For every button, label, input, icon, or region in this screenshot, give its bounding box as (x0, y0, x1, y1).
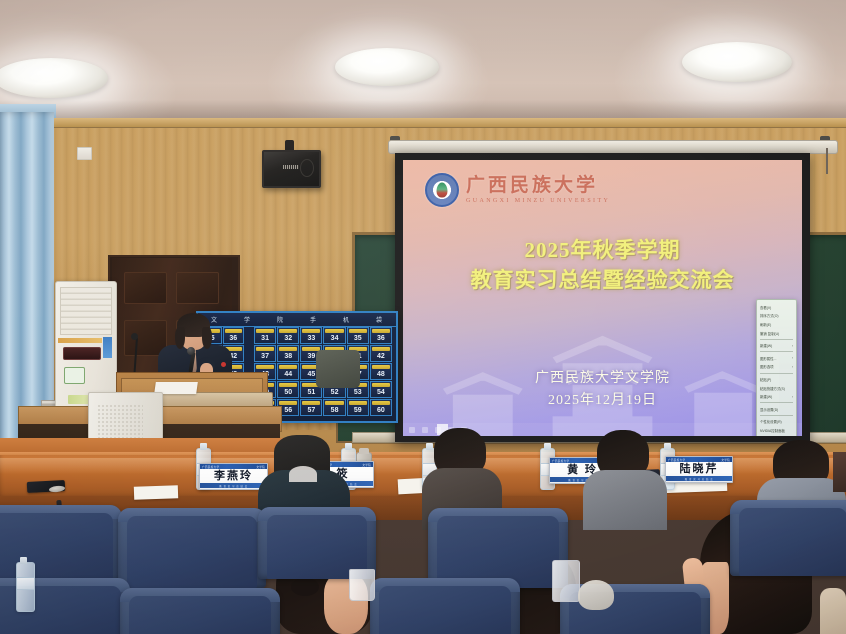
slide-title: 2025年秋季学期 教育实习总结暨经验交流会 (403, 236, 802, 296)
context-menu-label: 撤销 复制(U) (760, 331, 779, 336)
pocket-cell[interactable]: 60 (370, 399, 392, 416)
context-menu-item[interactable]: 图形选项› (757, 363, 796, 372)
paper-stack (134, 485, 178, 500)
wall-trim (0, 118, 846, 128)
pocket-cell[interactable]: 59 (347, 399, 369, 416)
gooseneck-mic-head-icon (131, 333, 138, 340)
pocket-board-header: 文 学 院 手 机 袋 (198, 313, 396, 327)
ac-vent-grille (60, 287, 112, 335)
partial-audience-shoulder (820, 588, 846, 634)
context-menu-label: 粘贴快捷方式(S) (760, 386, 785, 391)
context-menu-item[interactable]: 个性化设置(R) (757, 418, 796, 427)
slide-subtitle-line-2: 2025年12月19日 (403, 390, 802, 412)
context-menu-label: 图形属性... (760, 356, 776, 361)
presenter-badge (221, 362, 226, 367)
slide-subtitle-line-1: 广西民族大学文学院 (403, 368, 802, 390)
nameplate-footer: 教 育 实 习 总 结 会 (666, 476, 732, 481)
office-chair[interactable] (316, 350, 360, 388)
panelist-body (583, 470, 667, 530)
desktop-context-menu[interactable]: 查看(V) 排序方式(O) 刷新(E) 撤销 复制(U) 新建(W)› 图形属性… (756, 299, 797, 436)
auditorium-seat[interactable] (370, 578, 520, 634)
slide-title-line-2: 教育实习总结暨经验交流会 (403, 266, 802, 296)
pocket-cell[interactable]: 35 (347, 327, 369, 344)
pocket-cell[interactable]: 33 (300, 327, 322, 344)
pocket-cell[interactable]: 48 (370, 363, 392, 380)
context-menu-item[interactable]: 排序方式(O) (757, 312, 796, 321)
context-menu-label: 新建(W) (760, 343, 772, 348)
submenu-arrow-icon: › (792, 365, 793, 369)
nameplate: 广西民族大学 文学院 李燕玲 教 育 实 习 总 结 会 (199, 463, 268, 490)
ac-energy-label (103, 337, 112, 358)
seat-cushion (739, 508, 846, 576)
auditorium-seat[interactable] (118, 508, 266, 588)
pocket-header-char: 机 (343, 315, 350, 324)
panelist-collar (289, 466, 317, 482)
auditorium-seat[interactable] (428, 508, 568, 588)
pocket-header-char: 袋 (376, 315, 383, 324)
pocket-cell[interactable]: 31 (254, 327, 276, 344)
pocket-cell[interactable]: 38 (277, 345, 299, 362)
projection-screen-roller[interactable] (388, 140, 838, 154)
seat-cushion (129, 596, 271, 634)
pocket-cell[interactable]: 44 (277, 363, 299, 380)
nameplate: 广西民族大学 文学院 陆晓芹 教 育 实 习 总 结 会 (665, 456, 733, 483)
fur-collar (578, 580, 614, 610)
context-menu-item[interactable]: 撤销 复制(U) (757, 329, 796, 338)
presenter-hair-side (202, 327, 212, 349)
context-menu-item[interactable]: 新建(W)› (757, 341, 796, 350)
projection-screen: 广西民族大学 GUANGXI MINZU UNIVERSITY 2025年秋季学… (403, 160, 802, 436)
auditorium-seat[interactable] (730, 500, 846, 576)
submenu-arrow-icon: › (792, 356, 793, 360)
context-menu-separator (760, 373, 793, 374)
context-menu-item[interactable]: NVIDIA控制面板 (757, 426, 796, 435)
ceiling-light-2 (335, 48, 439, 86)
pocket-header-char: 文 (211, 315, 218, 324)
door-panel (124, 272, 167, 304)
nameplate-org-left: 广西民族大学 (668, 458, 685, 462)
context-menu-label: 刷新(E) (760, 322, 771, 327)
nameplate-org-right: 文学院 (362, 463, 371, 467)
pocket-cell[interactable]: 36 (370, 327, 392, 344)
nameplate-org-left: 广西民族大学 (552, 459, 569, 463)
travel-mug[interactable] (552, 560, 580, 602)
context-menu-item[interactable]: 刷新(E) (757, 320, 796, 329)
pocket-cell[interactable]: 54 (370, 381, 392, 398)
slide-title-line-1: 2025年秋季学期 (403, 236, 802, 266)
taskbar-icon[interactable] (409, 427, 415, 433)
context-menu-item[interactable]: 新建(W)› (757, 392, 796, 401)
context-menu-item[interactable]: 粘贴快捷方式(S) (757, 384, 796, 393)
nameplate-event-label: 教 育 实 习 总 结 会 (685, 477, 714, 481)
context-menu-label: NVIDIA控制面板 (760, 428, 785, 433)
pocket-cell[interactable]: 37 (254, 345, 276, 362)
context-menu-item[interactable]: 图形属性...› (757, 354, 796, 363)
conference-room-photo: 广西民族大学 GUANGXI MINZU UNIVERSITY 2025年秋季学… (0, 0, 846, 634)
slide-subtitle: 广西民族大学文学院 2025年12月19日 (403, 368, 802, 411)
slide-university-logo: 广西民族大学 GUANGXI MINZU UNIVERSITY (425, 173, 610, 207)
water-bottle[interactable] (16, 562, 35, 612)
ceiling-light-3 (682, 42, 792, 82)
pocket-cell[interactable]: 42 (370, 345, 392, 362)
seat-cushion (127, 516, 257, 588)
context-menu-label: 显示设置(D) (760, 407, 778, 412)
context-menu-label: 排序方式(O) (760, 313, 778, 318)
context-menu-item[interactable]: 显示设置(D) (757, 405, 796, 414)
nameplate-footer: 教 育 实 习 总 结 会 (200, 483, 267, 488)
microphone-head-icon (187, 347, 195, 355)
ac-green-label (64, 367, 85, 384)
university-seal-icon (425, 173, 459, 207)
seal-flame-icon (437, 183, 448, 198)
context-menu-label: 个性化设置(R) (760, 419, 782, 424)
seat-cushion (379, 586, 511, 634)
nameplate-org-left: 广西民族大学 (202, 465, 219, 469)
pocket-cell[interactable]: 58 (323, 399, 345, 416)
paper-cup[interactable] (349, 569, 375, 601)
pocket-header-char: 院 (277, 315, 284, 324)
context-menu-separator (760, 402, 793, 403)
auditorium-seat[interactable] (120, 588, 280, 634)
context-menu-item[interactable]: 查看(V) (757, 303, 796, 312)
pocket-cell[interactable]: 34 (323, 327, 345, 344)
nameplate-org-right: 文学院 (256, 465, 265, 469)
pocket-cell[interactable]: 50 (277, 381, 299, 398)
wall-socket (77, 147, 92, 160)
pocket-cell[interactable]: 36 (223, 327, 245, 344)
pocket-header-char: 学 (244, 315, 251, 324)
pocket-header-char: 手 (310, 315, 317, 324)
pocket-cell[interactable]: 32 (277, 327, 299, 344)
context-menu-separator (760, 415, 793, 416)
door-panel (176, 272, 219, 304)
context-menu-label: 粘贴(P) (760, 377, 771, 382)
context-menu-item[interactable]: 粘贴(P) (757, 375, 796, 384)
logo-chinese-name: 广西民族大学 (466, 176, 610, 195)
context-menu-label: 查看(V) (760, 305, 771, 310)
taskbar-icon[interactable] (422, 427, 428, 433)
ac-warning-sticker (58, 338, 102, 343)
submenu-arrow-icon: › (792, 344, 793, 348)
partial-person (833, 452, 846, 492)
audience-hair-bun (291, 578, 319, 596)
context-menu-label: 新建(W) (760, 394, 772, 399)
context-menu-separator (760, 339, 793, 340)
context-menu-separator (760, 351, 793, 352)
submenu-arrow-icon: › (792, 395, 793, 399)
context-menu-label: 图形选项 (760, 364, 774, 369)
nameplate-event-label: 教 育 实 习 总 结 会 (219, 484, 248, 488)
ac-display-panel (63, 347, 101, 360)
speaker-cone-icon (300, 159, 314, 177)
nameplate-org-right: 文学院 (721, 458, 730, 462)
presenter-hair-side (175, 327, 185, 349)
nameplate-name: 陆晓芹 (666, 462, 732, 476)
nameplate-name: 李燕玲 (200, 469, 267, 483)
pocket-cell[interactable]: 57 (300, 399, 322, 416)
logo-english-name: GUANGXI MINZU UNIVERSITY (466, 198, 610, 204)
yamaha-logo-icon (283, 165, 299, 169)
bottle-label (17, 577, 34, 590)
screen-cable (826, 148, 828, 174)
